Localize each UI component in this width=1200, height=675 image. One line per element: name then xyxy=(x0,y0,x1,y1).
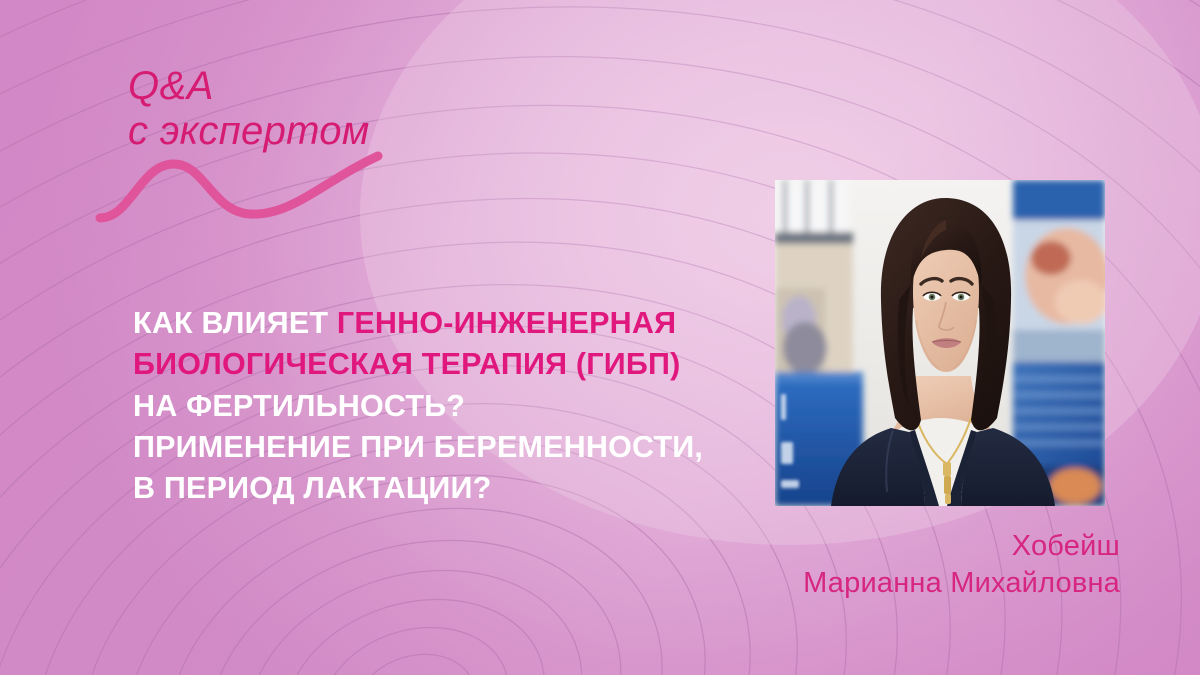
speaker-photo xyxy=(775,180,1105,506)
headline-line-4: ПРИМЕНЕНИЕ ПРИ БЕРЕМЕННОСТИ, xyxy=(133,427,773,468)
qa-badge: Q&A с экспертом xyxy=(128,66,548,154)
headline-line-1: КАК ВЛИЯЕТ ГЕННО-ИНЖЕНЕРНАЯ xyxy=(133,303,773,344)
qa-title: Q&A xyxy=(128,66,548,107)
speaker-given-names: Марианна Михайловна xyxy=(803,565,1120,602)
headline-segment: В ПЕРИОД ЛАКТАЦИИ? xyxy=(133,471,491,505)
qa-subtitle: с экспертом xyxy=(128,109,548,154)
headline-segment-accent: БИОЛОГИЧЕСКАЯ ТЕРАПИЯ (ГИБП) xyxy=(133,347,680,381)
speaker-surname: Хобейш xyxy=(803,528,1120,565)
headline-segment: ПРИМЕНЕНИЕ ПРИ БЕРЕМЕННОСТИ, xyxy=(133,430,703,464)
headline-line-2: БИОЛОГИЧЕСКАЯ ТЕРАПИЯ (ГИБП) xyxy=(133,344,773,385)
headline-line-3: НА ФЕРТИЛЬНОСТЬ? xyxy=(133,386,773,427)
headline-segment-accent: ГЕННО-ИНЖЕНЕРНАЯ xyxy=(337,306,676,340)
headline-line-5: В ПЕРИОД ЛАКТАЦИИ? xyxy=(133,468,773,509)
headline-segment: НА ФЕРТИЛЬНОСТЬ? xyxy=(133,389,465,423)
page-title: КАК ВЛИЯЕТ ГЕННО-ИНЖЕНЕРНАЯ БИОЛОГИЧЕСКА… xyxy=(133,303,773,510)
headline-segment: КАК ВЛИЯЕТ xyxy=(133,306,337,340)
presentation-slide: Q&A с экспертом КАК ВЛИЯЕТ ГЕННО-ИНЖЕНЕР… xyxy=(0,0,1200,675)
speaker-name: Хобейш Марианна Михайловна xyxy=(803,528,1120,602)
